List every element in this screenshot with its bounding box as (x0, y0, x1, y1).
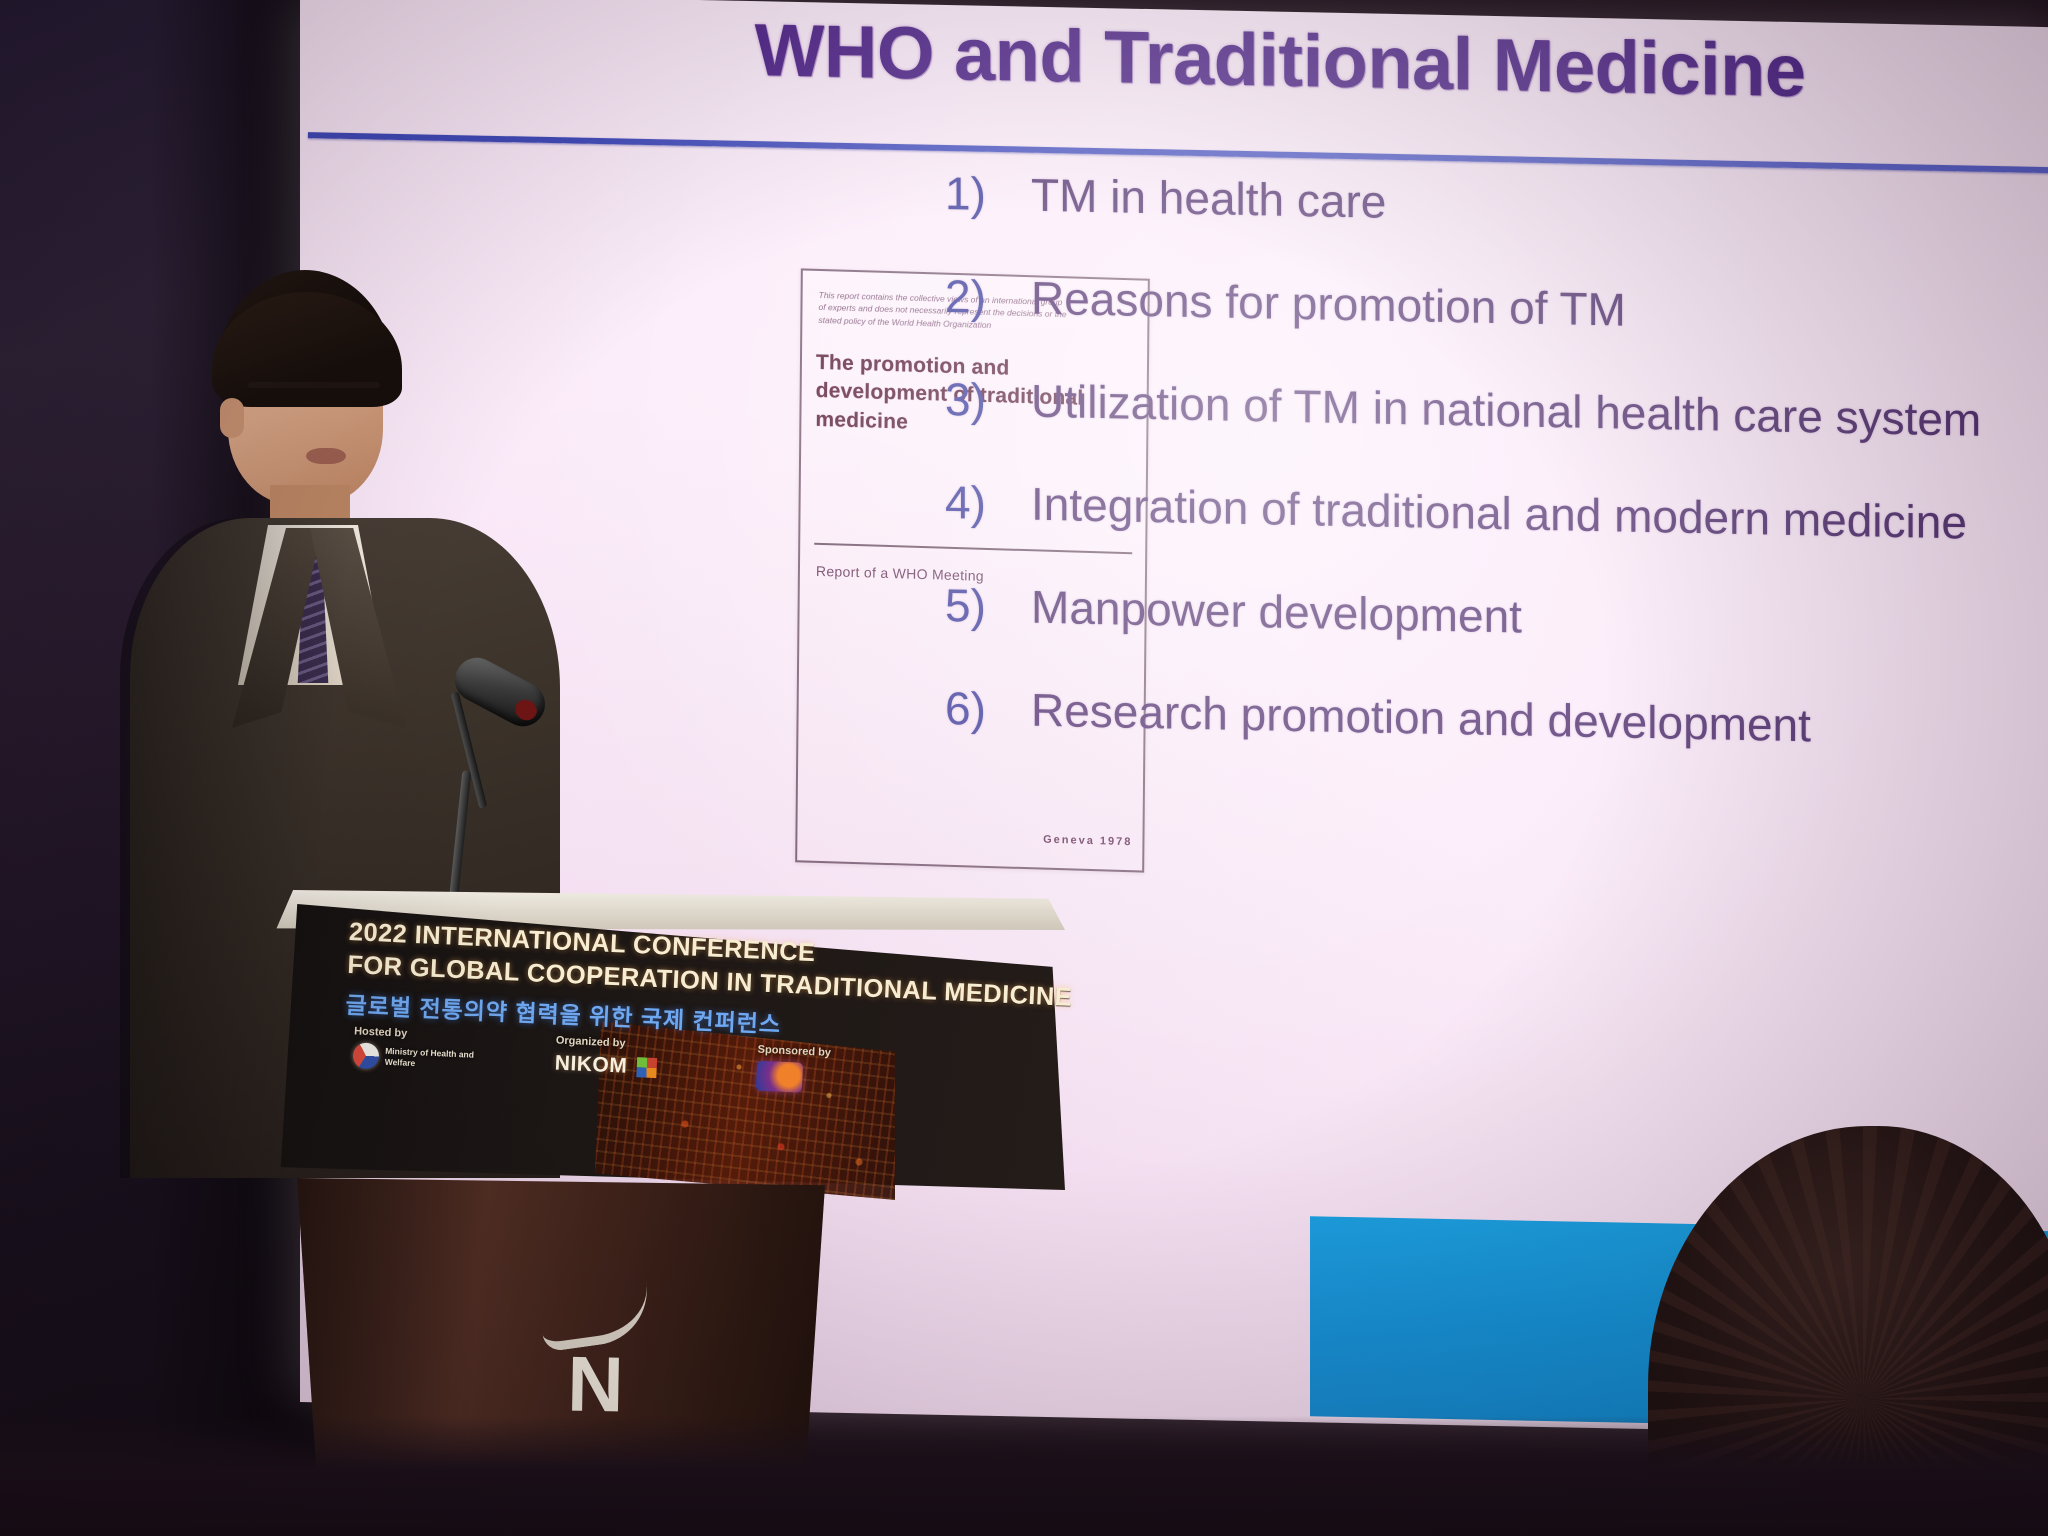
list-item: 3) Utilization of TM in national health … (945, 371, 2048, 452)
title-divider-rule (308, 132, 2048, 173)
slide-title: WHO and Traditional Medicine (530, 3, 2030, 118)
slide-numbered-list: 1) TM in health care 2) Reasons for prom… (945, 165, 2048, 807)
floor-shadow (0, 1416, 2048, 1536)
credit-hosted-by: Hosted by Ministry of Health and Welfare (352, 1025, 504, 1079)
list-item: 4) Integration of traditional and modern… (945, 474, 2048, 555)
credit-organized-by: Organized by NIKOM (554, 1034, 706, 1088)
list-item-number: 4) (945, 474, 1031, 533)
nikom-blocks-icon (636, 1057, 657, 1078)
list-item-number: 2) (945, 268, 1031, 327)
list-item-label: Reasons for promotion of TM (1031, 270, 2048, 349)
speaker-eye-line (248, 382, 380, 388)
list-item: 1) TM in health care (945, 165, 2048, 246)
sponsor-logo-icon (756, 1061, 803, 1093)
venue-logo: N (524, 1289, 666, 1421)
list-item-label: TM in health care (1031, 167, 2048, 246)
list-item-label: Research promotion and development (1031, 682, 2048, 761)
venue-swoosh-icon (537, 1283, 654, 1353)
list-item-label: Utilization of TM in national health car… (1031, 373, 2048, 452)
list-item-number: 3) (945, 371, 1031, 430)
list-item: 5) Manpower development (945, 577, 2048, 658)
list-item-label: Manpower development (1031, 579, 2048, 658)
venue-letter-mark: N (524, 1348, 665, 1421)
speaker-mouth (306, 448, 346, 464)
credit-org-name: Ministry of Health and Welfare (384, 1046, 503, 1073)
list-item-label: Integration of traditional and modern me… (1031, 476, 2048, 555)
speaker-ear (220, 398, 244, 438)
book-footer-text: Geneva 1978 (1043, 834, 1132, 849)
list-item-number: 1) (945, 165, 1031, 224)
list-item: 2) Reasons for promotion of TM (945, 268, 2048, 349)
credit-org-name: NIKOM (554, 1051, 628, 1078)
conference-presentation-photo: WHO and Traditional Medicine This report… (0, 0, 2048, 1536)
list-item: 6) Research promotion and development (945, 680, 2048, 761)
list-item-number: 6) (945, 680, 1031, 739)
taegeuk-icon (352, 1042, 379, 1069)
credit-sponsored-by: Sponsored by (756, 1044, 908, 1098)
list-item-number: 5) (945, 577, 1031, 636)
